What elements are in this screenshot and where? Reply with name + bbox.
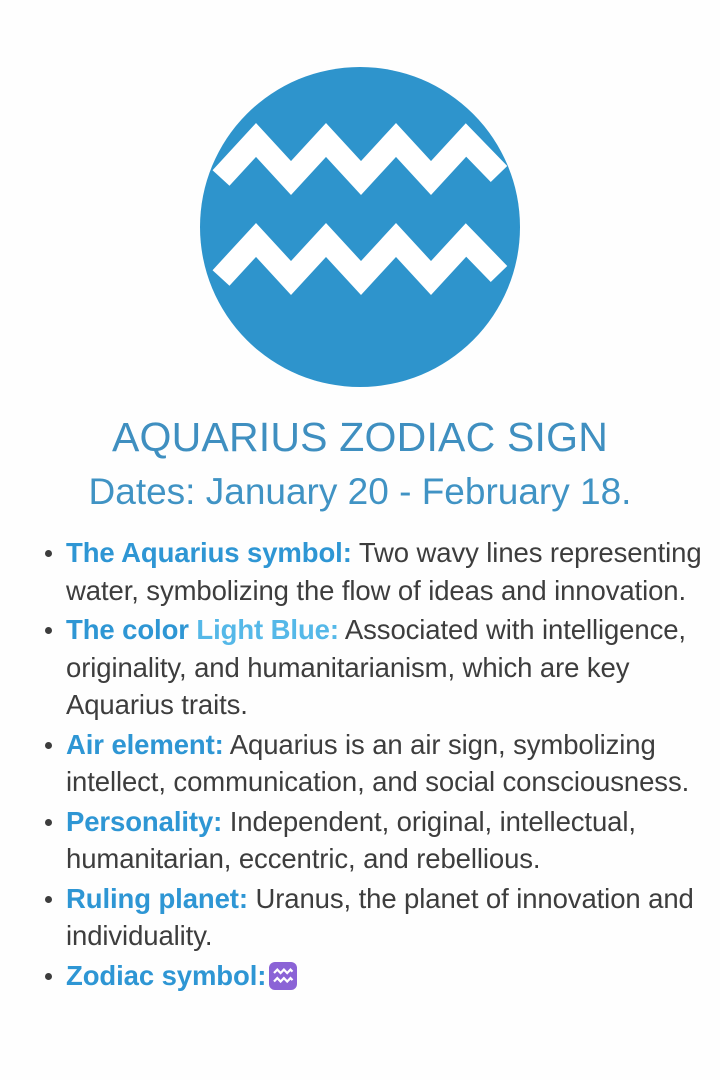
fact-label: Ruling planet: bbox=[66, 883, 248, 914]
list-item: The Aquarius symbol: Two wavy lines repr… bbox=[36, 534, 712, 609]
list-item: The color Light Blue: Associated with in… bbox=[36, 611, 712, 724]
page-subtitle: Dates: January 20 - February 18. bbox=[0, 470, 720, 514]
fact-label: Personality: bbox=[66, 806, 222, 837]
list-item: Ruling planet: Uranus, the planet of inn… bbox=[36, 880, 712, 955]
aquarius-water-bearer-icon bbox=[199, 66, 521, 388]
list-item: Air element: Aquarius is an air sign, sy… bbox=[36, 726, 712, 801]
aquarius-facts-list: The Aquarius symbol: Two wavy lines repr… bbox=[36, 534, 712, 996]
fact-label: The color bbox=[66, 614, 196, 645]
fact-label: Air element: bbox=[66, 729, 224, 760]
page-title: AQUARIUS ZODIAC SIGN bbox=[0, 414, 720, 461]
fact-label: Zodiac symbol: bbox=[66, 960, 266, 991]
fact-label-accent: Light Blue: bbox=[196, 614, 338, 645]
list-item: Zodiac symbol: bbox=[36, 957, 712, 995]
emblem-container bbox=[0, 66, 720, 396]
fact-label: The Aquarius symbol: bbox=[66, 537, 352, 568]
aquarius-emoji-badge-icon bbox=[269, 962, 297, 990]
list-item: Personality: Independent, original, inte… bbox=[36, 803, 712, 878]
aquarius-zodiac-infographic: AQUARIUS ZODIAC SIGN Dates: January 20 -… bbox=[0, 0, 720, 1080]
